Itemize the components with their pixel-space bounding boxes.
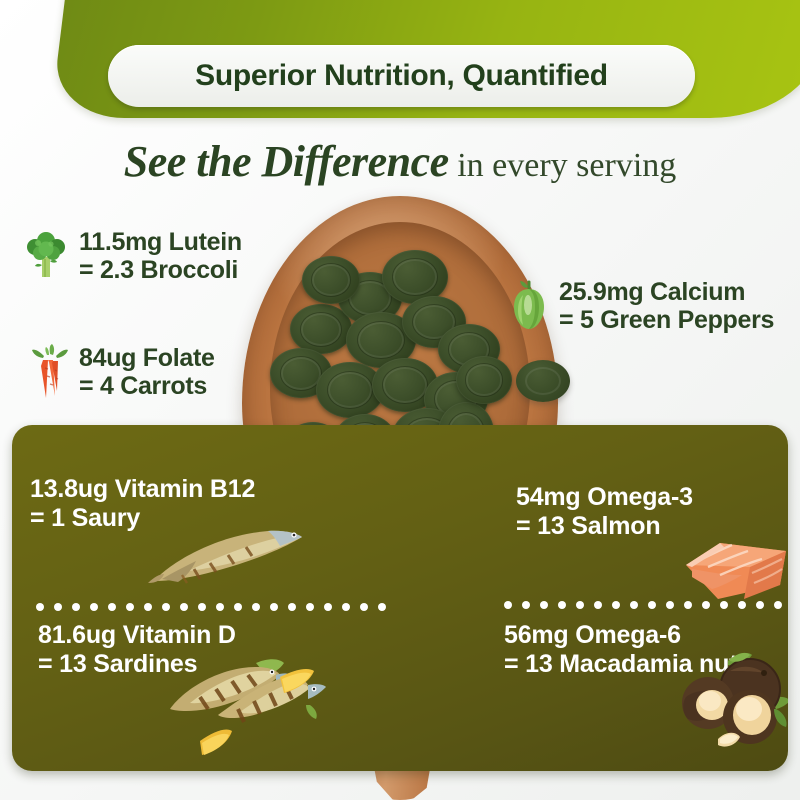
callout-calcium-text: 25.9mg Calcium = 5 Green Peppers bbox=[559, 278, 774, 334]
cell-omega3-amount: 54mg Omega-3 bbox=[516, 483, 693, 512]
banner-title-pill: Superior Nutrition, Quantified bbox=[108, 45, 695, 107]
subtitle-emphasis: See the Difference bbox=[124, 137, 449, 186]
page-title: Superior Nutrition, Quantified bbox=[195, 59, 608, 93]
divider-left bbox=[36, 603, 386, 611]
callout-folate-text: 84ug Folate = 4 Carrots bbox=[79, 344, 215, 400]
header-banner: Superior Nutrition, Quantified bbox=[0, 0, 800, 120]
tablet bbox=[302, 256, 360, 304]
divider-right bbox=[504, 601, 788, 609]
callout-calcium: 25.9mg Calcium = 5 Green Peppers bbox=[508, 278, 774, 334]
macadamia-nuts-photo bbox=[672, 647, 788, 767]
saury-fish-photo bbox=[148, 521, 316, 587]
grilled-sardines-photo bbox=[160, 653, 356, 769]
callout-folate: 84ug Folate = 4 Carrots bbox=[30, 344, 215, 400]
green-pepper-icon bbox=[508, 279, 550, 333]
subtitle: See the Difference in every serving bbox=[0, 136, 800, 187]
callout-folate-equivalent: = 4 Carrots bbox=[79, 372, 215, 400]
subtitle-regular: in every serving bbox=[449, 147, 677, 184]
tablet bbox=[456, 356, 512, 404]
broccoli-icon bbox=[22, 231, 70, 281]
carrots-icon bbox=[30, 344, 70, 400]
salmon-fillet-photo bbox=[678, 525, 788, 603]
cell-omega3-equivalent: = 13 Salmon bbox=[516, 512, 693, 541]
cell-omega6-amount: 56mg Omega-6 bbox=[504, 621, 751, 650]
lone-spirulina-tablet bbox=[516, 360, 570, 402]
callout-lutein-text: 11.5mg Lutein = 2.3 Broccoli bbox=[79, 228, 242, 284]
cell-b12-amount: 13.8ug Vitamin B12 bbox=[30, 475, 255, 504]
cell-vitd-amount: 81.6ug Vitamin D bbox=[38, 621, 236, 650]
callout-calcium-amount: 25.9mg Calcium bbox=[559, 278, 774, 306]
callout-lutein-amount: 11.5mg Lutein bbox=[79, 228, 242, 256]
nutrition-panel: 13.8ug Vitamin B12 = 1 Saury 54mg Omega-… bbox=[12, 425, 788, 771]
infographic-canvas: Superior Nutrition, Quantified See the D… bbox=[0, 0, 800, 800]
callout-lutein: 11.5mg Lutein = 2.3 Broccoli bbox=[22, 228, 242, 284]
callout-lutein-equivalent: = 2.3 Broccoli bbox=[79, 256, 242, 284]
callout-calcium-equivalent: = 5 Green Peppers bbox=[559, 306, 774, 334]
callout-folate-amount: 84ug Folate bbox=[79, 344, 215, 372]
panel-cell-omega-3: 54mg Omega-3 = 13 Salmon bbox=[516, 483, 693, 541]
